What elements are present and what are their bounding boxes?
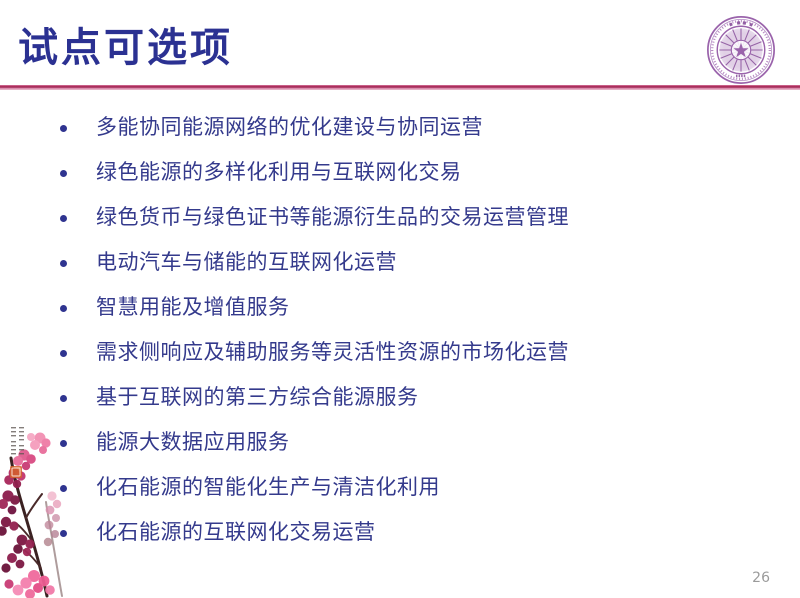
bullet-list: 多能协同能源网络的优化建设与协同运营 绿色能源的多样化利用与互联网化交易 绿色货… [60,112,760,562]
list-item-label: 绿色货币与绿色证书等能源衍生品的交易运营管理 [96,202,760,232]
bullet-dot-icon [60,170,67,177]
list-item: 多能协同能源网络的优化建设与协同运营 [60,112,760,157]
list-item: 绿色能源的多样化利用与互联网化交易 [60,157,760,202]
list-item-label: 多能协同能源网络的优化建设与协同运营 [96,112,760,142]
plum-blossom-decoration [0,418,84,598]
list-item: 基于互联网的第三方综合能源服务 [60,382,760,427]
list-item: 化石能源的互联网化交易运营 [60,517,760,562]
list-item-label: 化石能源的智能化生产与清洁化利用 [96,472,760,502]
list-item-label: 绿色能源的多样化利用与互联网化交易 [96,157,760,187]
tsinghua-seal-logo [705,14,777,86]
bullet-dot-icon [60,260,67,267]
list-item-label: 需求侧响应及辅助服务等灵活性资源的市场化运营 [96,337,760,367]
list-item: 化石能源的智能化生产与清洁化利用 [60,472,760,517]
list-item: 绿色货币与绿色证书等能源衍生品的交易运营管理 [60,202,760,247]
list-item: 电动汽车与储能的互联网化运营 [60,247,760,292]
title-divider-rule-highlight [0,88,800,90]
bullet-dot-icon [60,215,67,222]
list-item: 智慧用能及增值服务 [60,292,760,337]
list-item-label: 化石能源的互联网化交易运营 [96,517,760,547]
list-item-label: 基于互联网的第三方综合能源服务 [96,382,760,412]
list-item-label: 能源大数据应用服务 [96,427,760,457]
bullet-dot-icon [60,305,67,312]
list-item-label: 电动汽车与储能的互联网化运营 [96,247,760,277]
bullet-dot-icon [60,125,67,132]
presentation-slide: 试点可选项 [0,0,800,598]
list-item: 需求侧响应及辅助服务等灵活性资源的市场化运营 [60,337,760,382]
list-item: 能源大数据应用服务 [60,427,760,472]
bullet-dot-icon [60,350,67,357]
page-title: 试点可选项 [18,22,233,74]
list-item-label: 智慧用能及增值服务 [96,292,760,322]
page-number: 26 [752,570,770,586]
bullet-dot-icon [60,395,67,402]
slide-header: 试点可选项 [0,0,800,92]
